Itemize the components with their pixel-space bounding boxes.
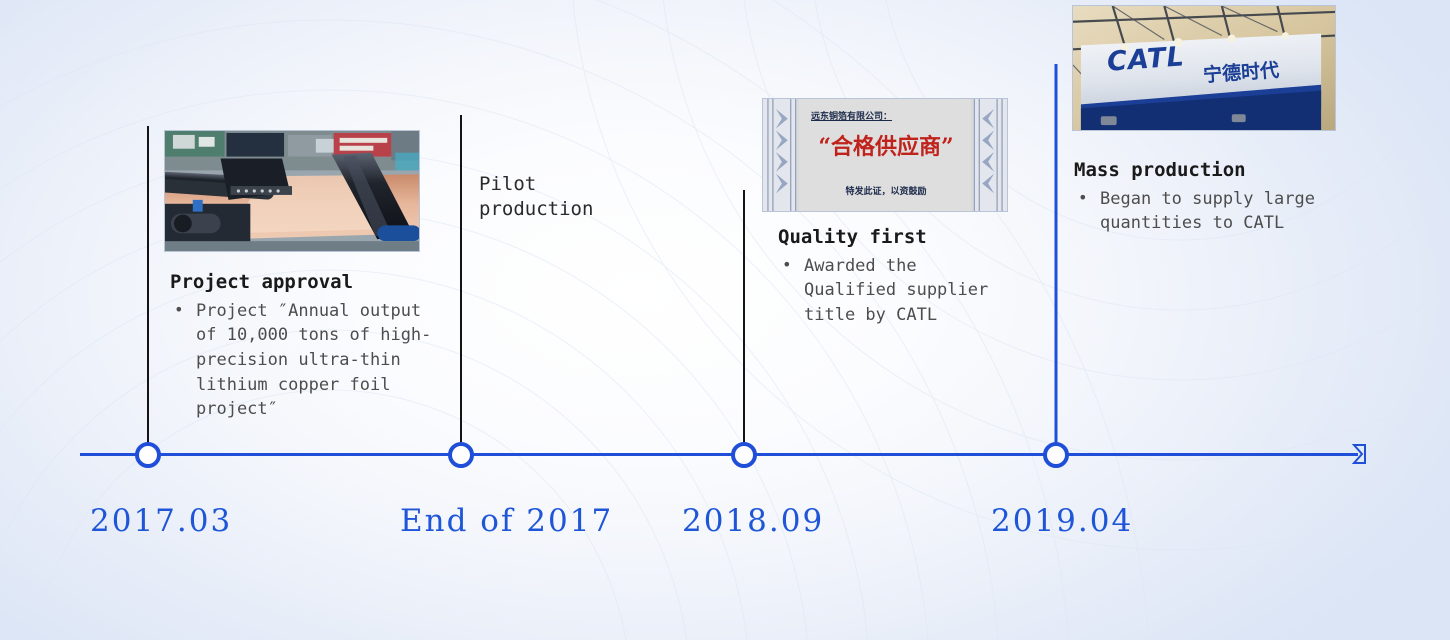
date-label-3: 2018.09 xyxy=(682,503,824,539)
milestone-title-2: Pilot production xyxy=(479,172,699,221)
timeline-slide: Project approval Project ″Annual output … xyxy=(0,0,1450,640)
catl-brand-latin: CATL xyxy=(1106,41,1186,77)
qualified-supplier-certificate-photo: 远东铜箔有限公司： “合格供应商” 特发此证，以资鼓励 xyxy=(762,98,1008,212)
milestone-block-1: Project approval Project ″Annual output … xyxy=(170,270,440,422)
milestone-bullets-4: Began to supply large quantities to CATL xyxy=(1074,187,1344,236)
arrow-right-icon xyxy=(1352,442,1367,466)
milestone-bullets-3: Awarded the Qualified supplier title by … xyxy=(778,254,1028,328)
timeline-marker-4[interactable] xyxy=(1043,442,1069,468)
date-label-4: 2019.04 xyxy=(991,503,1133,539)
list-item: Awarded the Qualified supplier title by … xyxy=(778,254,1028,328)
timeline-axis xyxy=(80,453,1358,456)
certificate-company-line: 远东铜箔有限公司： xyxy=(811,109,892,122)
milestone-block-4: Mass production Began to supply large qu… xyxy=(1074,158,1344,236)
catl-booth-photo: CATL 宁德时代 xyxy=(1072,5,1336,131)
milestone-block-3: Quality first Awarded the Qualified supp… xyxy=(778,225,1028,328)
connector-stem-3 xyxy=(743,190,745,445)
connector-stem-2 xyxy=(460,115,462,445)
connector-stem-4 xyxy=(1055,64,1058,446)
list-item: Began to supply large quantities to CATL xyxy=(1074,187,1344,236)
list-item: Project ″Annual output of 10,000 tons of… xyxy=(170,299,440,422)
timeline-marker-3[interactable] xyxy=(731,442,757,468)
milestone-title-1: Project approval xyxy=(170,270,440,295)
milestone-block-2: Pilot production xyxy=(479,172,699,221)
date-label-2: End of 2017 xyxy=(400,503,613,539)
milestone-title-4: Mass production xyxy=(1074,158,1344,183)
milestone-bullets-1: Project ″Annual output of 10,000 tons of… xyxy=(170,299,440,422)
timeline-marker-1[interactable] xyxy=(135,442,161,468)
date-label-1: 2017.03 xyxy=(90,503,232,539)
certificate-footer-text: 特发此证，以资鼓励 xyxy=(811,184,961,197)
copper-foil-production-line-photo xyxy=(164,130,420,252)
timeline-marker-2[interactable] xyxy=(448,442,474,468)
milestone-title-3: Quality first xyxy=(778,225,1028,250)
certificate-award-text: “合格供应商” xyxy=(811,129,961,161)
connector-stem-1 xyxy=(147,126,149,444)
catl-brand-cjk: 宁德时代 xyxy=(1202,55,1280,87)
